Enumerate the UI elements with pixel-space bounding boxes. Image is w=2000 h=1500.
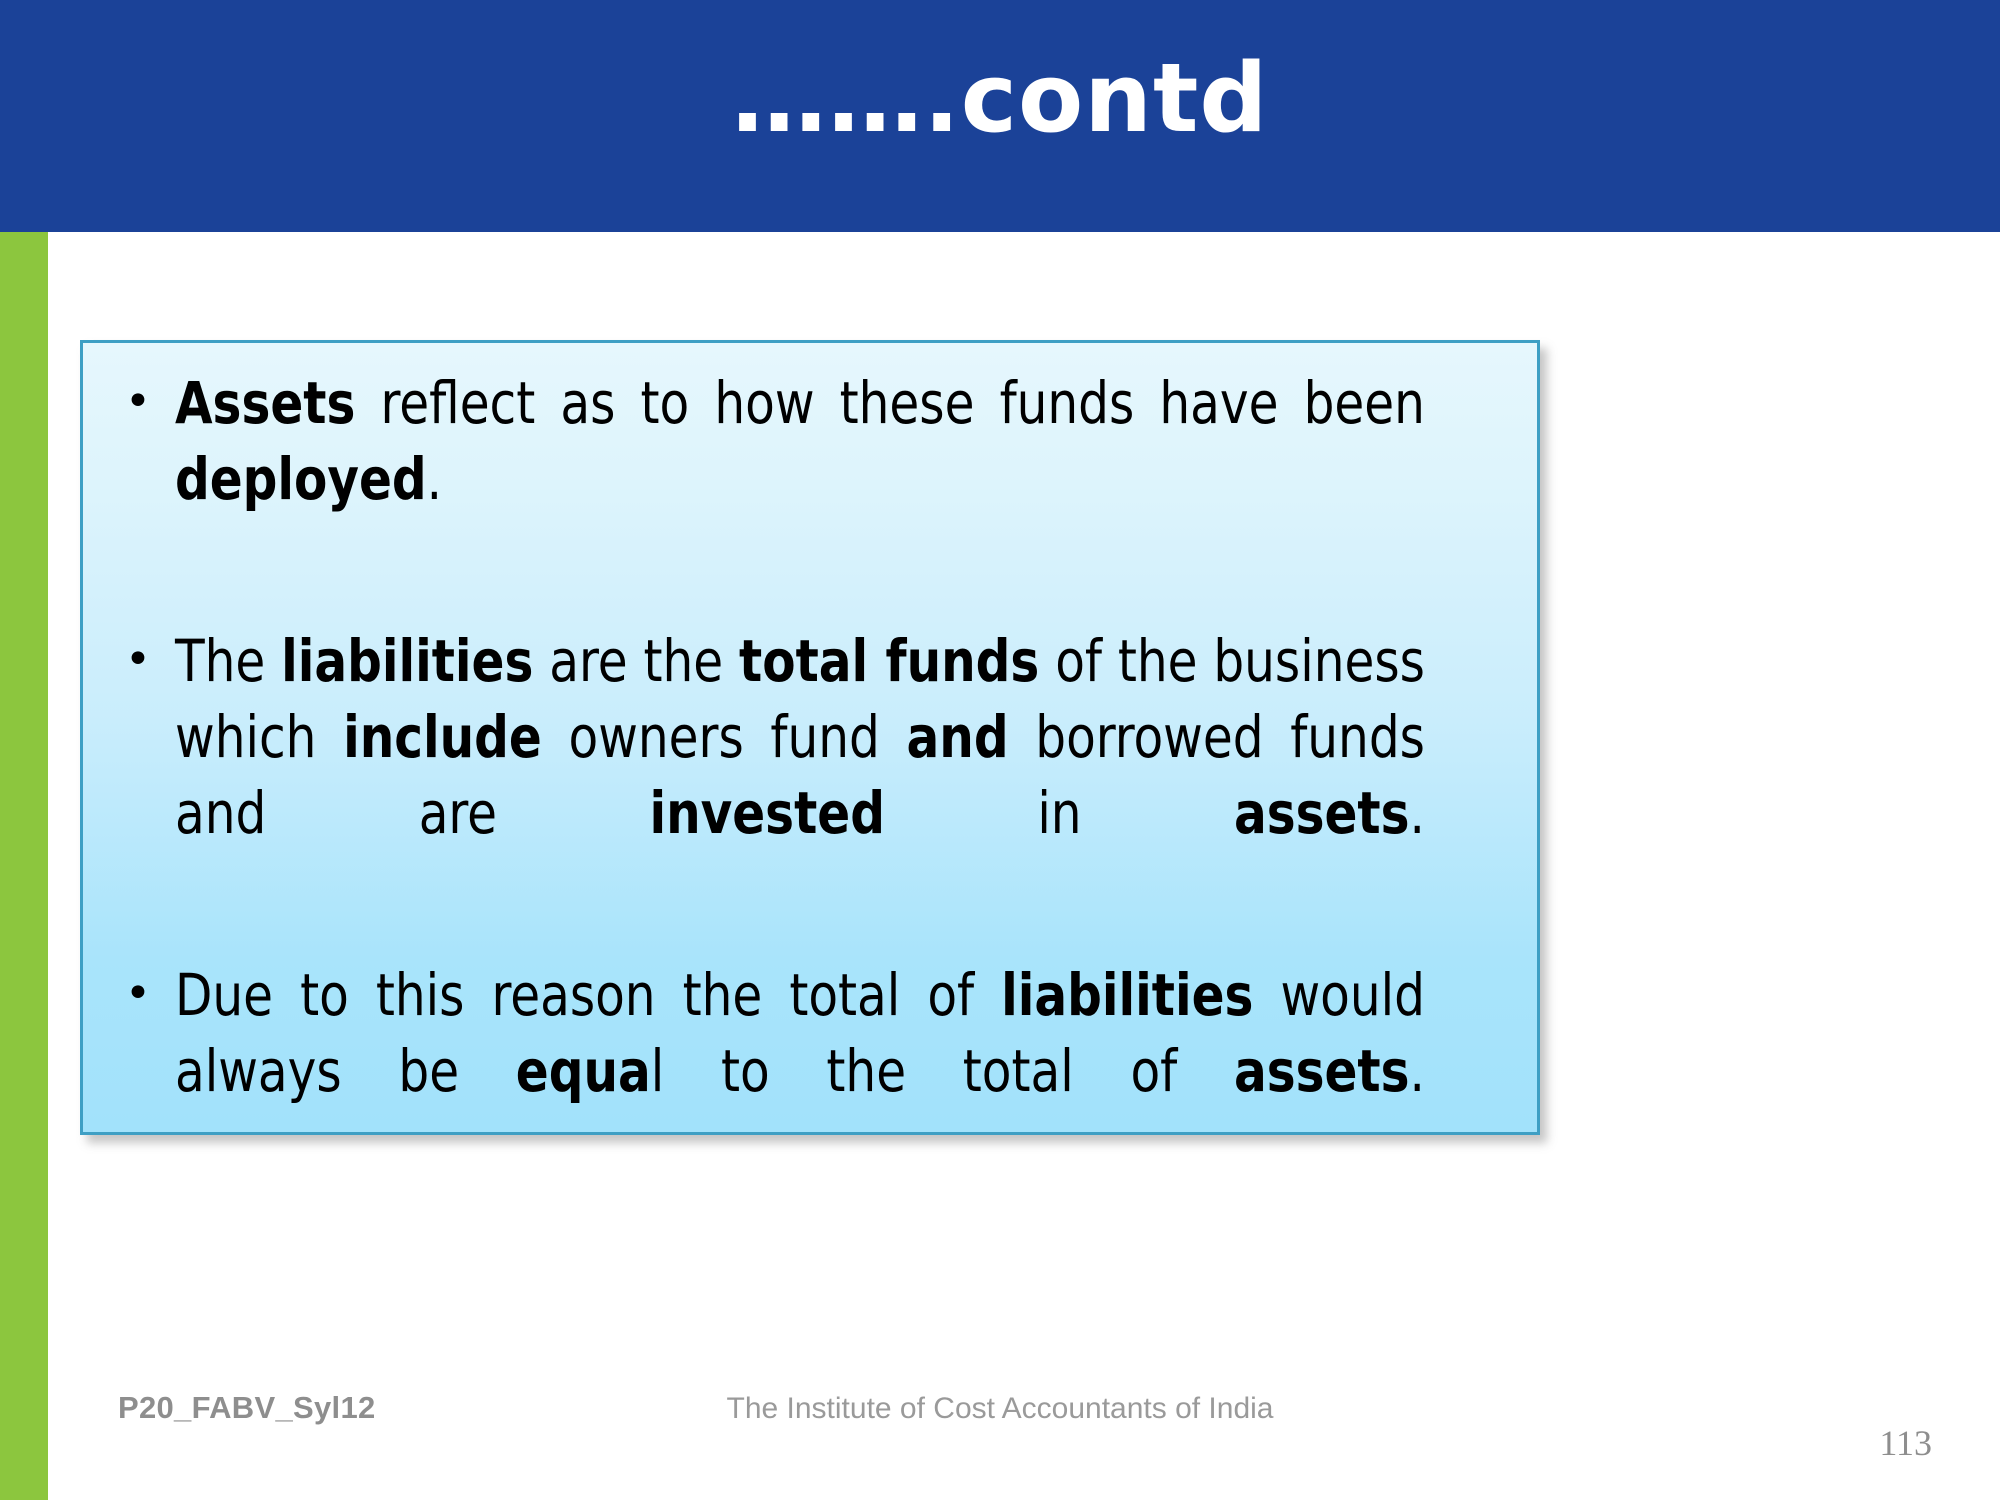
bullet-point-icon: • — [101, 957, 175, 1031]
bullet-text: Assets reflect as to how these funds hav… — [175, 365, 1425, 593]
slide-footer: P20_FABV_Syl12 The Institute of Cost Acc… — [0, 1380, 2000, 1500]
list-item: •The liabilities are the total funds of … — [101, 623, 1519, 927]
bullet-point-icon: • — [101, 623, 175, 697]
footer-page-number: 113 — [1879, 1422, 1932, 1464]
bullet-text: The liabilities are the total funds of t… — [175, 623, 1425, 927]
bullet-list: •Assets reflect as to how these funds ha… — [101, 365, 1519, 1185]
content-card: •Assets reflect as to how these funds ha… — [80, 340, 1540, 1135]
list-item: •Assets reflect as to how these funds ha… — [101, 365, 1519, 593]
slide-header-band: …….contd — [0, 0, 2000, 232]
left-accent-stripe — [0, 232, 48, 1500]
footer-organization: The Institute of Cost Accountants of Ind… — [0, 1392, 2000, 1426]
bullet-text: Due to this reason the total of liabilit… — [175, 957, 1425, 1185]
page-title: …….contd — [0, 44, 2000, 154]
bullet-point-icon: • — [101, 365, 175, 439]
list-item: •Due to this reason the total of liabili… — [101, 957, 1519, 1185]
